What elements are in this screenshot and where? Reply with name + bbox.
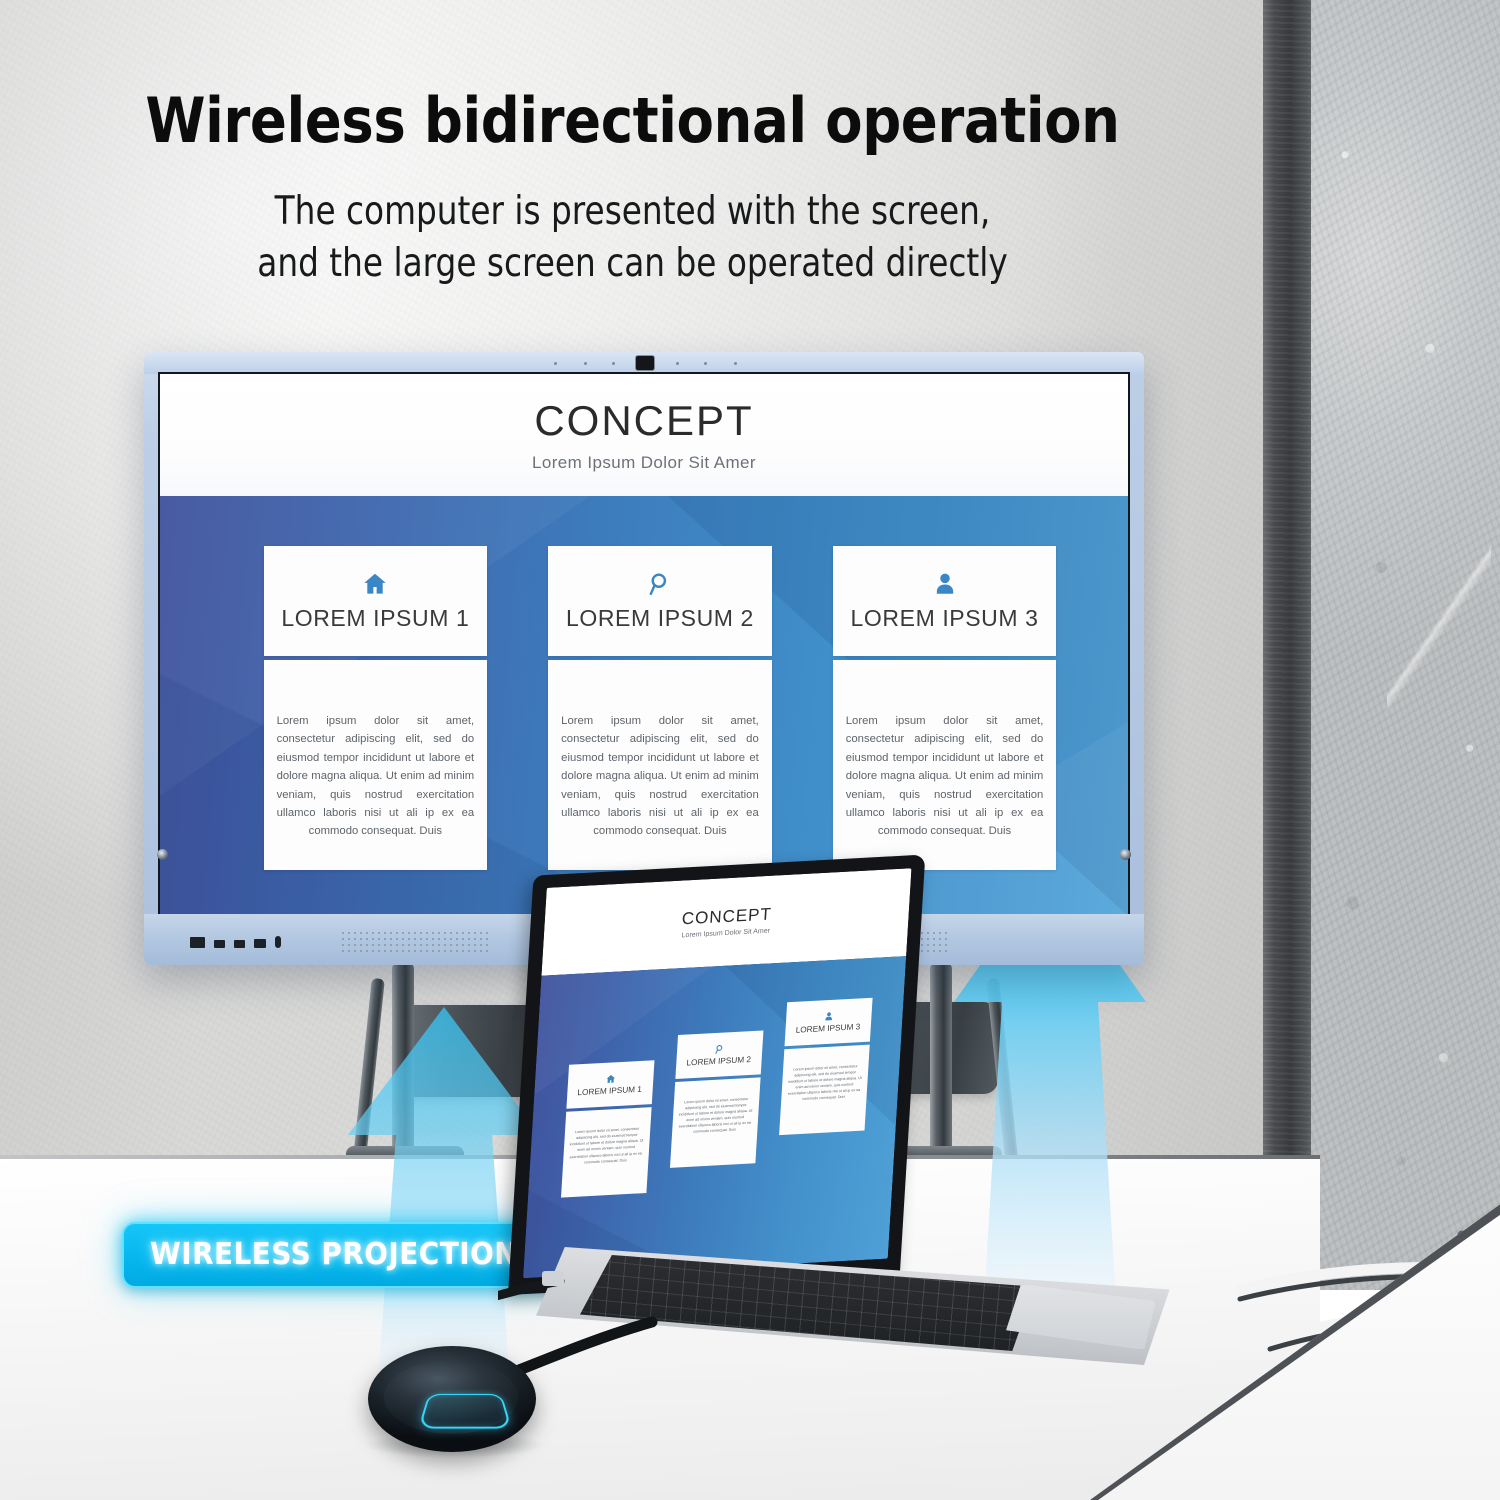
- laptop-slide-card: LOREM IPSUM 1 Lorem ipsum dolor sit amet…: [561, 1060, 654, 1197]
- audio-jack-icon: [275, 936, 281, 948]
- laptop-slide-card-body: Lorem ipsum dolor sit amet, consectetur …: [779, 1044, 870, 1134]
- display-screen[interactable]: CONCEPT Lorem Ipsum Dolor Sit Amer: [160, 374, 1128, 914]
- laptop-slide-card-header: LOREM IPSUM 2: [675, 1030, 763, 1079]
- laptop-slide-card: LOREM IPSUM 3 Lorem ipsum dolor sit amet…: [779, 997, 872, 1134]
- wall-column-dark: [1263, 0, 1313, 1350]
- camera-icon: [636, 356, 654, 370]
- slide-card-title: LOREM IPSUM 1: [281, 605, 469, 632]
- laptop-slide-card-body: Lorem ipsum dolor sit amet, consectetur …: [670, 1077, 761, 1167]
- laptop-slide-card-title: LOREM IPSUM 3: [795, 1022, 860, 1034]
- wireless-projection-dongle[interactable]: [368, 1336, 544, 1456]
- laptop[interactable]: CONCEPT Lorem Ipsum Dolor Sit Amer: [498, 875, 1198, 1355]
- slide-header: CONCEPT Lorem Ipsum Dolor Sit Amer: [160, 374, 1128, 496]
- wall-concrete-panel: [1311, 0, 1500, 1290]
- usb-port-icon: [234, 940, 245, 948]
- laptop-presentation-slide: CONCEPT Lorem Ipsum Dolor Sit Amer: [523, 868, 911, 1278]
- scene: CONCEPT Lorem Ipsum Dolor Sit Amer: [0, 0, 1500, 1500]
- slide-card-title: LOREM IPSUM 2: [566, 605, 754, 632]
- laptop-slide-card-text: Lorem ipsum dolor sit amet, consectetur …: [786, 1063, 864, 1104]
- lan-port-icon: [254, 939, 266, 948]
- laptop-screen[interactable]: CONCEPT Lorem Ipsum Dolor Sit Amer: [523, 868, 911, 1278]
- page-subheadline-line2: and the large screen can be operated dir…: [101, 238, 1164, 290]
- hdmi-port-icon: [190, 937, 205, 948]
- slide-card-header: LOREM IPSUM 1: [264, 546, 488, 656]
- laptop-slide-card-text: Lorem ipsum dolor sit amet, consectetur …: [677, 1096, 755, 1137]
- page-subheadline-line1: The computer is presented with the scree…: [101, 186, 1164, 238]
- search-icon: [646, 570, 674, 598]
- user-icon: [823, 1010, 835, 1022]
- slide-card-header: LOREM IPSUM 2: [548, 546, 772, 656]
- dongle-power-button[interactable]: [418, 1394, 512, 1429]
- laptop-lid: CONCEPT Lorem Ipsum Dolor Sit Amer: [508, 855, 925, 1295]
- dongle-body: [368, 1346, 536, 1452]
- slide-card-body: Lorem ipsum dolor sit amet, consectetur …: [264, 660, 488, 870]
- laptop-slide-card: LOREM IPSUM 2 Lorem ipsum dolor sit amet…: [670, 1030, 763, 1167]
- laptop-slide-card-header: LOREM IPSUM 1: [566, 1060, 654, 1109]
- slide-subtitle: Lorem Ipsum Dolor Sit Amer: [532, 453, 756, 473]
- laptop-slide-body: LOREM IPSUM 1 Lorem ipsum dolor sit amet…: [523, 956, 906, 1278]
- slide-cards: LOREM IPSUM 1 Lorem ipsum dolor sit amet…: [160, 496, 1128, 914]
- home-icon: [361, 570, 389, 598]
- page-headline: Wireless bidirectional operation: [76, 84, 1189, 157]
- dongle-top-face: [384, 1360, 518, 1434]
- laptop-slide-card-title: LOREM IPSUM 2: [686, 1055, 751, 1067]
- search-icon: [714, 1043, 726, 1055]
- page-subheadline: The computer is presented with the scree…: [101, 186, 1164, 291]
- slide-title: CONCEPT: [534, 397, 753, 445]
- slide-card-title: LOREM IPSUM 3: [851, 605, 1039, 632]
- home-icon: [605, 1073, 617, 1085]
- slide-card-body: Lorem ipsum dolor sit amet, consectetur …: [548, 660, 772, 870]
- slide-card-text: Lorem ipsum dolor sit amet, consectetur …: [561, 712, 759, 841]
- user-icon: [931, 570, 959, 598]
- slide-body: LOREM IPSUM 1 Lorem ipsum dolor sit amet…: [160, 496, 1128, 914]
- laptop-slide-title: CONCEPT: [681, 905, 772, 930]
- presentation-slide: CONCEPT Lorem Ipsum Dolor Sit Amer: [160, 374, 1128, 914]
- laptop-slide-card-body: Lorem ipsum dolor sit amet, consectetur …: [561, 1107, 652, 1197]
- display-screw: [157, 849, 168, 860]
- usb-port-icon: [214, 940, 225, 948]
- laptop-slide-subtitle: Lorem Ipsum Dolor Sit Amer: [681, 928, 770, 940]
- slide-card-header: LOREM IPSUM 3: [833, 546, 1057, 656]
- speaker-grille: [340, 930, 488, 952]
- slide-card-text: Lorem ipsum dolor sit amet, consectetur …: [846, 712, 1044, 841]
- laptop-slide-card-title: LOREM IPSUM 1: [577, 1085, 642, 1097]
- laptop-slide-card-header: LOREM IPSUM 3: [784, 997, 872, 1046]
- wireless-projection-label: WIRELESS PROJECTION: [150, 1237, 518, 1272]
- slide-card-body: Lorem ipsum dolor sit amet, consectetur …: [833, 660, 1057, 870]
- display-screw: [1120, 849, 1131, 860]
- slide-card-text: Lorem ipsum dolor sit amet, consectetur …: [277, 712, 475, 841]
- display-ports: [190, 936, 281, 948]
- display-top-bezel: [144, 352, 1144, 374]
- laptop-slide-card-text: Lorem ipsum dolor sit amet, consectetur …: [568, 1126, 646, 1167]
